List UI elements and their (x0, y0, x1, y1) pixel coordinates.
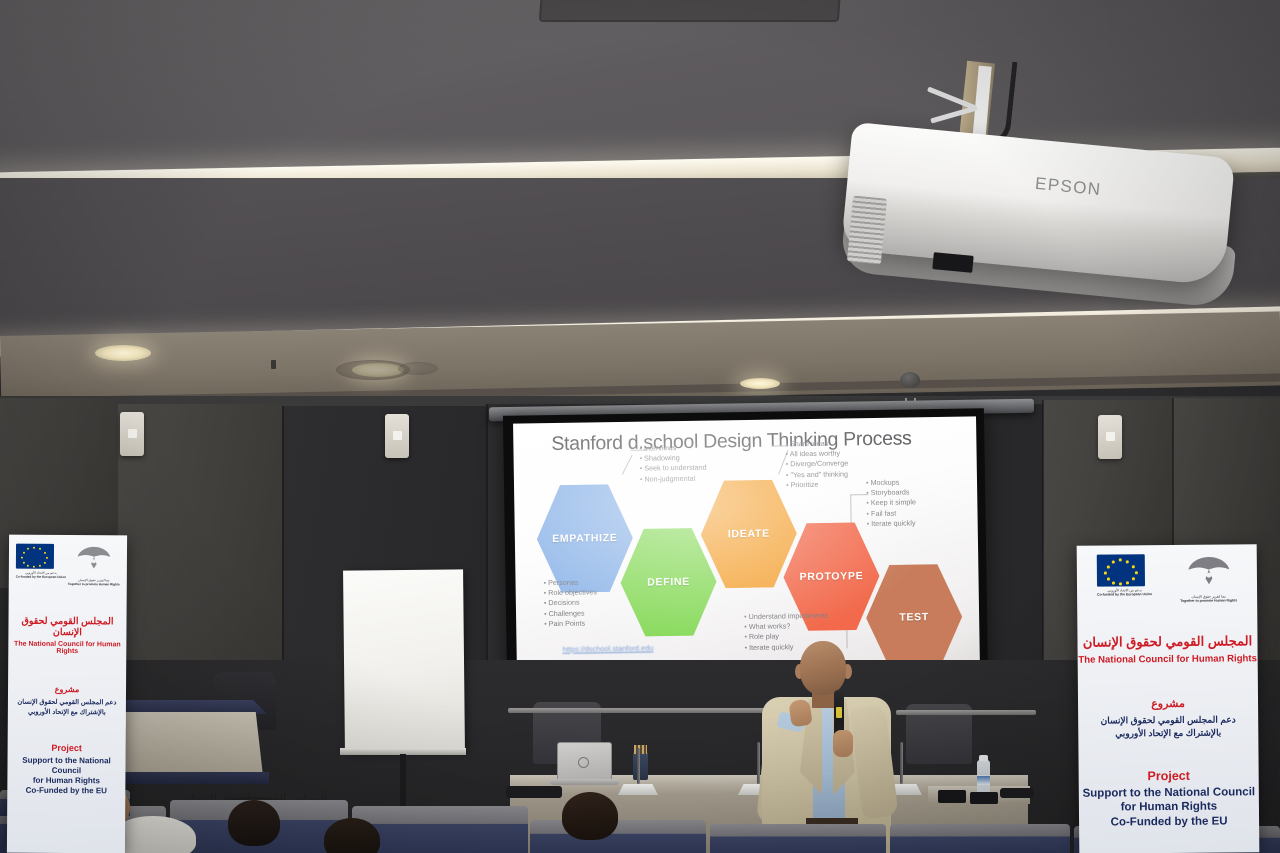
microphone-base[interactable] (618, 784, 658, 795)
bullets-protoype: Mockups Storyboards Keep it simple Fail … (866, 477, 916, 529)
banner-project-arabic-line-2: بالإشتراك مع الإتحاد الأوروبي (8, 708, 126, 719)
audience-seat (530, 820, 706, 853)
bullet-item: Keep it simple (866, 498, 916, 509)
banner-title-arabic: المجلس القومي لحقوق الإنسان (8, 616, 126, 639)
laptop-brand-logo-icon (578, 757, 589, 768)
bullet-item: Prioritize (786, 479, 849, 490)
sprinkler-head-icon (271, 360, 276, 369)
bullet-item: Understand impediments (744, 611, 829, 623)
wall-speaker-icon (385, 414, 409, 458)
microphone-gooseneck (900, 742, 903, 784)
hex-stage-define[interactable]: DEFINE (620, 525, 718, 638)
lectern-body (118, 712, 263, 776)
banner-project-english-line-3: Co-Funded by the EU (7, 785, 125, 796)
slide-source-link[interactable]: https://dschool.stanford.edu (563, 643, 654, 653)
roll-up-banner-left: بدعم من الاتحاد الأوروبي Co-funded by th… (7, 535, 127, 853)
eu-caption-english: Co-funded by the European Union (1097, 593, 1152, 598)
bullet-item: Seek to understand (640, 463, 707, 474)
banner-project-arabic-line-2: بالإشتراك مع الإتحاد الأوروبي (1078, 727, 1258, 742)
downlight-icon (95, 345, 151, 361)
wall-seam (486, 404, 488, 704)
conference-room-scene: EPSON Stanford d.school Design Thinking … (0, 0, 1280, 853)
hex-label-ideate: IDEATE (728, 528, 770, 541)
desk-rail (508, 708, 770, 713)
eu-flag-icon (16, 544, 54, 569)
speaker-right-hand (788, 699, 812, 728)
bullet-item: Non-judgmental (640, 473, 707, 484)
nchr-logo-block: معا لتعزيز حقوق الإنسان Together to prom… (1180, 553, 1237, 603)
lectern-base (112, 772, 269, 784)
bullets-ideate: Share ideas All ideas worthy Diverge/Con… (785, 438, 848, 490)
hex-label-protoype: PROTOYPE (800, 570, 864, 583)
banner-project-english-line-2: for Human Rights (1079, 799, 1259, 815)
microphone-gooseneck (637, 748, 640, 784)
ceiling-diffuser-icon (398, 362, 438, 375)
banner-project-label-english: Project (8, 742, 126, 753)
bullet-item: Pain Points (544, 618, 597, 629)
banner-project-label-english: Project (1079, 768, 1259, 784)
water-bottle-cap (979, 755, 988, 761)
slide-title: Stanford d.school Design Thinking Proces… (551, 427, 912, 456)
banner-logo-row: بدعم من الاتحاد الأوروبي Co-funded by th… (1077, 544, 1258, 604)
smartphone[interactable] (970, 792, 998, 804)
bullet-item: Iterate quickly (867, 518, 917, 529)
hex-label-test: TEST (899, 611, 929, 623)
audience-member-head (228, 800, 280, 846)
banner-project-english-line-3: Co-Funded by the EU (1079, 814, 1259, 830)
banner-title-english: The National Council for Human Rights (8, 641, 126, 656)
slide-design-thinking: Stanford d.school Design Thinking Proces… (513, 416, 980, 675)
nchr-logo-block: معا لتعزيز حقوق الإنسان Together to prom… (68, 544, 120, 586)
banner-project-english-line-1: Support to the National Council (1079, 785, 1259, 801)
banner-logo-row: بدعم من الاتحاد الأوروبي Co-funded by th… (9, 535, 127, 587)
projector-vent-grille (847, 196, 887, 265)
flipchart-paper[interactable] (343, 569, 465, 750)
eu-logo-block: بدعم من الاتحاد الأوروبي Co-funded by th… (1097, 554, 1152, 597)
bullets-empathize: Interviews Shadowing Seek to understand … (639, 443, 706, 485)
leader-line (622, 455, 633, 475)
roll-up-banner-right: بدعم من الاتحاد الأوروبي Co-funded by th… (1077, 544, 1260, 853)
ceiling-vent-rectangular (539, 0, 841, 22)
audience-member-head (562, 792, 618, 840)
audience-seat (890, 824, 1070, 853)
eu-logo-block: بدعم من الاتحاد الأوروبي Co-funded by th… (16, 544, 66, 579)
nchr-caption-english: Together to promote Human Rights (68, 582, 120, 586)
hex-label-define: DEFINE (647, 576, 690, 589)
banner-title-english: The National Council for Human Rights (1078, 653, 1258, 666)
lectern-top (112, 700, 267, 714)
nchr-caption-english: Together to promote Human Rights (1180, 599, 1237, 604)
wall-seam (1042, 400, 1044, 700)
hex-stage-test[interactable]: TEST (865, 562, 963, 673)
eu-caption-english: Co-funded by the European Union (16, 575, 66, 579)
microphone-indicator-icon (836, 707, 842, 718)
nchr-emblem-icon (1180, 553, 1237, 592)
ceiling-camera-icon (900, 372, 920, 388)
bullet-item: Diverge/Converge (786, 459, 849, 470)
wall-speaker-icon (1098, 415, 1122, 459)
water-bottle-label (977, 776, 990, 785)
speaker-head (800, 641, 846, 695)
nchr-emblem-icon (68, 544, 120, 576)
desk-rail (896, 710, 1036, 715)
audience-seat (710, 824, 886, 853)
hex-label-empathize: EMPATHIZE (552, 532, 618, 545)
hex-stage-ideate[interactable]: IDEATE (700, 477, 798, 590)
smartphone[interactable] (938, 790, 966, 803)
notebook-dark (506, 786, 562, 798)
eu-flag-icon (1097, 554, 1145, 586)
banner-project-arabic-line-1: دعم المجلس القومي لحقوق الإنسان (1078, 713, 1258, 728)
laptop-base (550, 779, 619, 785)
downlight-icon (740, 378, 780, 389)
banner-project-label-arabic: مشروع (8, 685, 126, 695)
speaker-left-hand (833, 730, 853, 757)
bullet-item: Role objectives (544, 588, 597, 599)
pen-holder (633, 752, 648, 780)
projection-screen[interactable]: Stanford d.school Design Thinking Proces… (513, 416, 980, 675)
wall-speaker-icon (120, 412, 144, 456)
bullets-define: Personas Role objectives Decisions Chall… (543, 577, 597, 629)
banner-project-label-arabic: مشروع (1078, 696, 1258, 711)
presenter-remote[interactable] (1000, 788, 1034, 798)
banner-project-arabic-line-1: دعم المجلس القومي لحقوق الإنسان (8, 698, 126, 709)
bullet-item: "Yes and" thinking (786, 469, 849, 480)
banner-title-arabic: المجلس القومي لحقوق الإنسان (1077, 633, 1257, 651)
banner-project-english-line-1: Support to the National Council (7, 755, 125, 776)
ceiling-access-hatch (1110, 3, 1220, 131)
